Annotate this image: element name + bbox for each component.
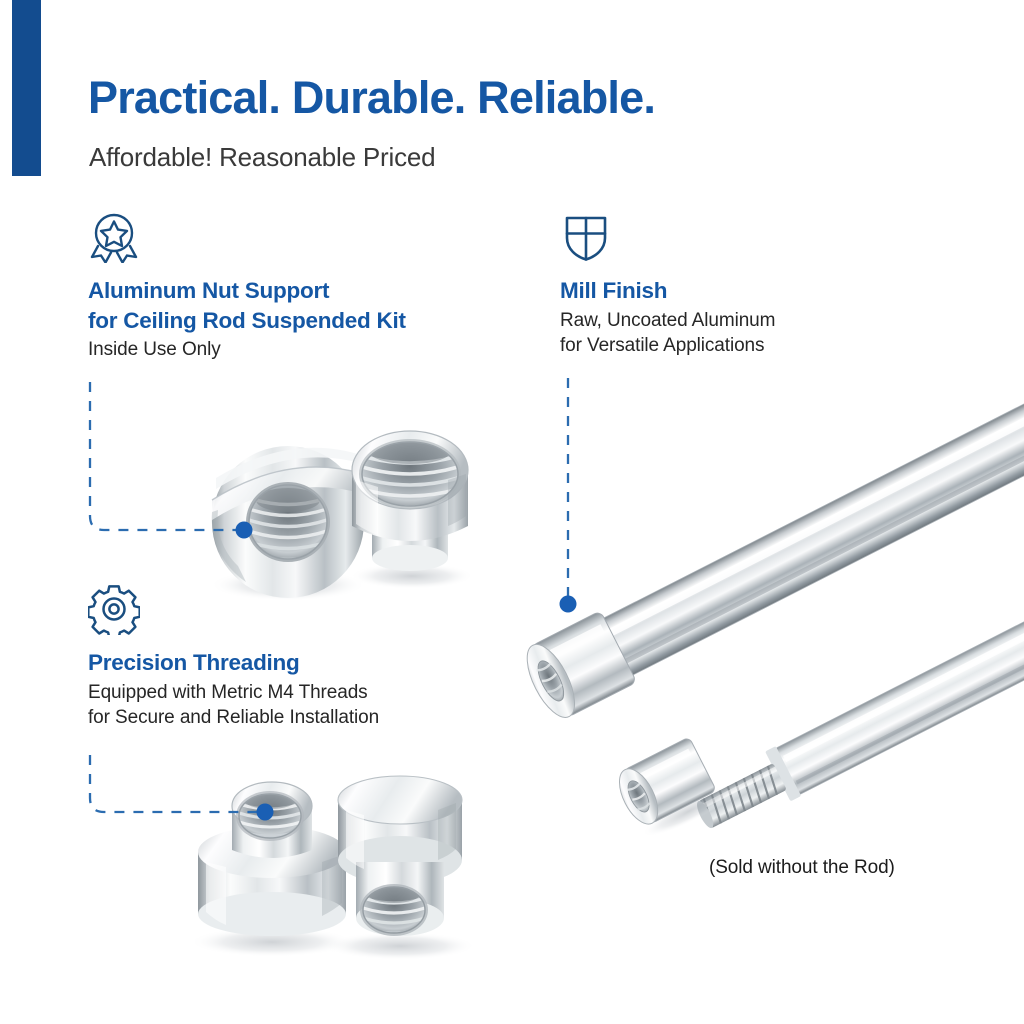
feature-title-threading: Precision Threading [88, 648, 488, 678]
aluminum-nut-front [210, 405, 366, 601]
feature-subtitle-mill-finish: Raw, Uncoated Aluminum for Versatile App… [560, 308, 880, 359]
feature-title-mill-finish: Mill Finish [560, 276, 880, 306]
feature-block-threading: Precision Threading Equipped with Metric… [88, 583, 488, 731]
rod-end-cap [612, 729, 741, 845]
feature-block-nut-support: Aluminum Nut Support for Ceiling Rod Sus… [88, 211, 518, 363]
gear-icon [88, 583, 140, 635]
award-badge-icon [88, 211, 140, 263]
feature-block-mill-finish: Mill Finish Raw, Uncoated Aluminum for V… [560, 211, 880, 359]
aluminum-nut-angled [350, 431, 474, 589]
shield-icon [560, 211, 612, 263]
feature-subtitle-threading: Equipped with Metric M4 Threads for Secu… [88, 680, 488, 731]
stepped-standoff-front [190, 782, 354, 957]
stepped-standoff-angled [324, 776, 476, 960]
feature-title-nut-support: Aluminum Nut Support for Ceiling Rod Sus… [88, 276, 518, 335]
product-infographic: Practical. Durable. Reliable. Affordable… [0, 0, 1024, 1024]
feature-subtitle-nut-support: Inside Use Only [88, 337, 518, 362]
footnote-sold-without-rod: (Sold without the Rod) [709, 857, 895, 879]
